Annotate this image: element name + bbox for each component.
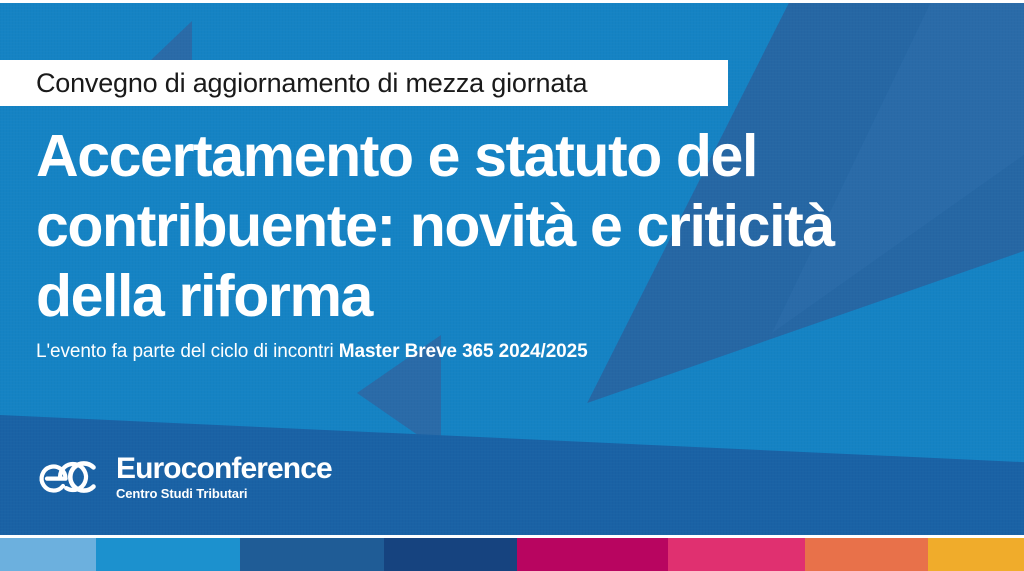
poster-canvas: Convegno di aggiornamento di mezza giorn… [0, 3, 1024, 535]
promotional-poster: Convegno di aggiornamento di mezza giorn… [0, 0, 1024, 571]
event-title-line-2: contribuente: novità e criticità [36, 191, 996, 261]
event-series-note: L'evento fa parte del ciclo di incontri … [36, 341, 588, 363]
color-bar-segment-amber [928, 538, 1024, 571]
event-series-lead-text: L'evento fa parte del ciclo di incontri [36, 341, 339, 362]
color-bar-segment-navy [384, 538, 517, 571]
euroconference-logo: Euroconference Centro Studi Tributari [36, 451, 332, 503]
triangle-top-left-decoration [150, 21, 192, 61]
event-type-banner: Convegno di aggiornamento di mezza giorn… [0, 60, 728, 106]
slanted-bottom-band-decoration [0, 333, 1024, 535]
color-bar-segment-orange [805, 538, 928, 571]
color-bar-segment-light-blue [0, 538, 96, 571]
logo-tagline: Centro Studi Tributari [116, 486, 332, 502]
color-bar-segment-steel-blue [240, 538, 384, 571]
event-type-label: Convegno di aggiornamento di mezza giorn… [36, 68, 587, 99]
color-bar-segment-blue [96, 538, 240, 571]
event-title: Accertamento e statuto del contribuente:… [36, 121, 996, 331]
ec-monogram-icon [36, 451, 102, 503]
event-series-name: Master Breve 365 2024/2025 [339, 341, 588, 362]
color-bar-segment-crimson [517, 538, 668, 571]
logo-brand-name: Euroconference [116, 453, 332, 485]
event-title-line-3: della riforma [36, 261, 996, 331]
brand-color-bar [0, 538, 1024, 571]
event-title-line-1: Accertamento e statuto del [36, 121, 996, 191]
color-bar-segment-pink [668, 538, 805, 571]
logo-wordmark: Euroconference Centro Studi Tributari [116, 453, 332, 502]
